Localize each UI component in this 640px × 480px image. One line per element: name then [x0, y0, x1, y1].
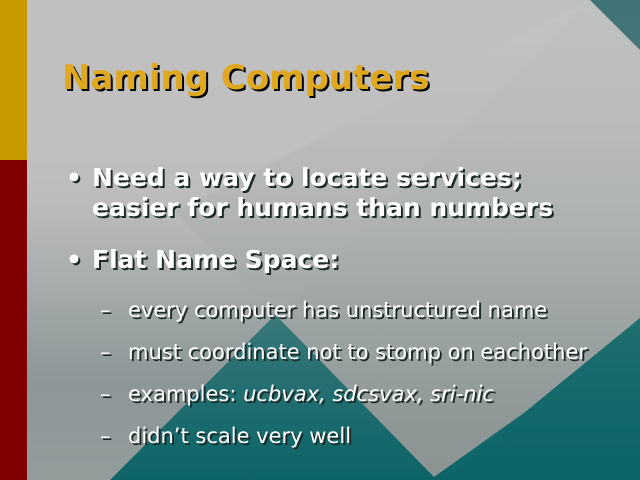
bullet-marker-dash-icon: –: [100, 381, 111, 407]
bullet-marker-dash-icon: –: [100, 423, 111, 449]
bullet-item-level2: – every computer has unstructured name: [62, 297, 602, 323]
bullet-item-level1: • Flat Name Space:: [62, 245, 602, 275]
bullet-text-emphasis: ucbvax, sdcsvax, sri-nic: [243, 382, 494, 406]
bullet-item-level1: • Need a way to locate services; easier …: [62, 163, 602, 223]
bullet-text: Need a way to locate services; easier fo…: [92, 163, 553, 222]
slide-title: Naming Computers: [62, 58, 429, 98]
bullet-text: must coordinate not to stomp on eachothe…: [128, 340, 587, 364]
presentation-slide: Naming Computers • Need a way to locate …: [0, 0, 640, 480]
bullet-item-level2: – didn’t scale very well: [62, 423, 602, 449]
bullet-text: Flat Name Space:: [92, 245, 339, 274]
bullet-item-level2: – must coordinate not to stomp on eachot…: [62, 339, 602, 365]
bullet-text: every computer has unstructured name: [128, 298, 547, 322]
bullet-marker-dot-icon: •: [66, 163, 82, 193]
bullet-marker-dash-icon: –: [100, 339, 111, 365]
bullet-marker-dot-icon: •: [66, 245, 82, 275]
slide-content: Naming Computers • Need a way to locate …: [0, 0, 640, 480]
bullet-text-label: examples:: [128, 382, 243, 406]
bullet-item-level2-examples: – examples: ucbvax, sdcsvax, sri-nic: [62, 381, 602, 407]
bullet-text: didn’t scale very well: [128, 424, 351, 448]
bullet-marker-dash-icon: –: [100, 297, 111, 323]
slide-body: • Need a way to locate services; easier …: [62, 163, 602, 465]
